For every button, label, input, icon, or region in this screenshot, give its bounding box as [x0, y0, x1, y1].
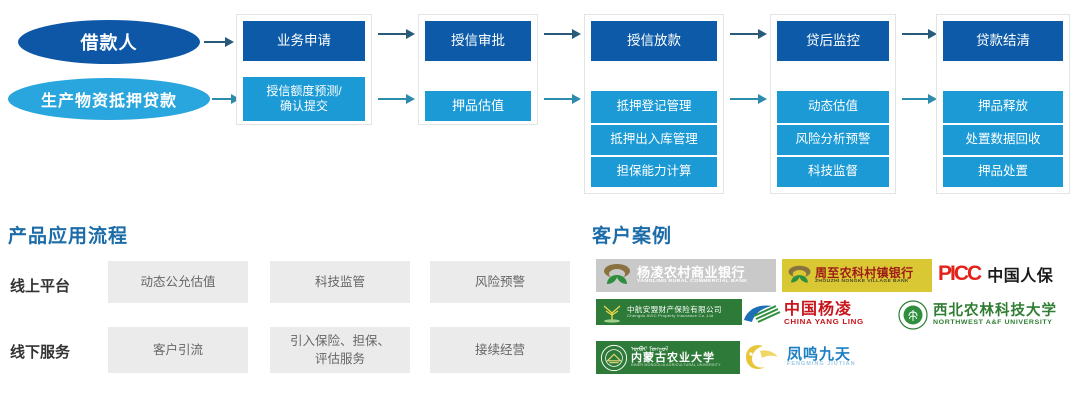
logo-cn-name: 中国杨凌	[784, 302, 864, 318]
flow-entity-loan-product[interactable]: 生产物资抵押贷款	[8, 78, 210, 120]
logo-text: 凤鸣九天 FENGMING JIUTIAN	[787, 347, 856, 368]
arrow-valuation-to-mortgage-reg	[544, 92, 582, 106]
customer-cases-title: 客户案例	[592, 221, 672, 248]
flow-subcell[interactable]: 押品处置	[943, 155, 1063, 187]
logo-text: 中航安盟财产保险有限公司 Chengdu AVIC Property Insur…	[627, 306, 722, 318]
flow-column-post-loan-monitoring: 贷后监控 动态估值 风险分析预警 科技监督	[770, 14, 896, 194]
flow-substack-credit-approval: 押品估值	[425, 91, 531, 121]
flow-cell-top-credit-approval[interactable]: 授信审批	[425, 21, 531, 61]
flow-subcell[interactable]: 押品释放	[943, 91, 1063, 123]
flow-subcell-label: 动态估值	[808, 99, 858, 115]
arrow-borrower-to-application	[204, 35, 234, 49]
slide-canvas: 借款人 生产物资抵押贷款 业务申请 授信额度预测/ 确认提交	[0, 0, 1080, 401]
logo-cn-name: 凤鸣九天	[787, 347, 856, 362]
flow-column-loan-settlement: 贷款结清 押品释放 处置数据回收 押品处置	[936, 14, 1070, 194]
flow-subcell-label: 抵押登记管理	[616, 99, 691, 115]
flow-cell-label: 贷后监控	[806, 33, 860, 50]
logo-yangling-rural-commercial-bank[interactable]: 杨凌农村商业银行 YANGLING RURAL COMMERCIAL BANK	[596, 259, 776, 292]
flow-subcell[interactable]: 动态估值	[777, 91, 889, 123]
arrow-application-to-valuation	[378, 92, 416, 106]
flow-subcell[interactable]: 押品估值	[425, 91, 531, 121]
flow-column-application: 业务申请 授信额度预测/ 确认提交	[236, 14, 372, 125]
flow-entity-borrower[interactable]: 借款人	[18, 20, 200, 64]
logo-en-name: CHINA YANG LING	[784, 318, 864, 326]
arrow-approval-to-disbursement	[544, 27, 582, 41]
logo-picc-china[interactable]: PICC 中国人保	[938, 258, 1078, 290]
logo-text: ᠥᠪᠥᠷ ᠮᠣᠩᠭᠣᠯ 内蒙古农业大学 INNER MONGOLIA AGRIC…	[631, 347, 721, 368]
logo-en-name: YANGLING RURAL COMMERCIAL BANK	[637, 280, 747, 285]
flow-subcell-label: 科技监督	[808, 164, 858, 180]
flow-subcell[interactable]: 科技监督	[777, 155, 889, 187]
flow-cell-label: 授信放款	[627, 33, 681, 50]
phoenix-icon	[740, 341, 784, 373]
arrow-application-to-approval	[378, 27, 416, 41]
flow-subcell-label: 担保能力计算	[616, 164, 691, 180]
arrow-disbursement-to-monitoring	[730, 27, 768, 41]
process-item[interactable]: 客户引流	[108, 327, 248, 373]
flow-subcell[interactable]: 风险分析预警	[777, 123, 889, 155]
flow-subcell[interactable]: 担保能力计算	[591, 155, 717, 187]
logo-fengming-jiutian[interactable]: 凤鸣九天 FENGMING JIUTIAN	[740, 340, 890, 374]
bank-emblem-icon	[600, 262, 634, 290]
bank-emblem-icon	[785, 263, 813, 289]
picc-wordmark: PICC	[938, 262, 980, 286]
logo-text: 西北农林科技大学 NORTHWEST A&F UNIVERSITY	[933, 304, 1057, 326]
flow-subcell[interactable]: 抵押登记管理	[591, 91, 717, 123]
logo-china-yangling[interactable]: 中国杨凌 CHINA YANG LING	[742, 298, 894, 330]
flow-column-credit-disbursement: 授信放款 抵押登记管理 抵押出入库管理 担保能力计算	[584, 14, 724, 194]
arrow-dynamic-valuation-to-release	[902, 92, 938, 106]
flow-cell-top-credit-disbursement[interactable]: 授信放款	[591, 21, 717, 61]
flow-cell-label: 贷款结清	[976, 33, 1030, 50]
logo-cn-name: 中国人保	[987, 262, 1053, 286]
logo-northwest-af-university[interactable]: 西北农林科技大学 NORTHWEST A&F UNIVERSITY	[898, 298, 1078, 332]
logo-en-name: ZHOUZHI NONGKE VILLAGE BANK	[815, 279, 913, 284]
process-flow-diagram: 借款人 生产物资抵押贷款 业务申请 授信额度预测/ 确认提交	[0, 0, 1080, 200]
plant-icon	[600, 301, 624, 323]
process-item[interactable]: 引入保险、担保、 评估服务	[270, 327, 410, 373]
flow-substack-application: 授信额度预测/ 确认提交	[243, 77, 365, 121]
logo-cn-name: 周至农科村镇银行	[815, 267, 913, 279]
process-row-label-offline: 线下服务	[10, 341, 70, 362]
flow-subcell-label: 押品处置	[978, 164, 1028, 180]
process-item[interactable]: 科技监管	[270, 261, 410, 303]
flow-subcell-label: 押品估值	[452, 98, 504, 114]
logo-zhouzhi-nongke-village-bank[interactable]: 周至农科村镇银行 ZHOUZHI NONGKE VILLAGE BANK	[782, 259, 932, 292]
flow-subcell-label: 押品释放	[978, 99, 1028, 115]
flow-cell-top-application[interactable]: 业务申请	[243, 21, 365, 61]
logo-inner-mongolia-agricultural-university[interactable]: ᠥᠪᠥᠷ ᠮᠣᠩᠭᠣᠯ 内蒙古农业大学 INNER MONGOLIA AGRIC…	[596, 341, 748, 374]
flow-cell-top-loan-settlement[interactable]: 贷款结清	[943, 21, 1063, 61]
process-row-label-online: 线上平台	[10, 275, 70, 296]
logo-en-name: INNER MONGOLIA AGRICULTURAL UNIVERSITY	[631, 364, 721, 367]
process-item[interactable]: 动态公允估值	[108, 261, 248, 303]
logo-text: 中国杨凌 CHINA YANG LING	[784, 302, 864, 326]
flow-substack-loan-settlement: 押品释放 处置数据回收 押品处置	[943, 91, 1063, 187]
flow-subcell-label: 风险分析预警	[795, 132, 870, 148]
university-seal-icon	[600, 344, 628, 372]
arrow-mortgage-reg-to-dynamic-valuation	[730, 92, 768, 106]
product-process-title: 产品应用流程	[8, 221, 128, 248]
logo-en-name: FENGMING JIUTIAN	[787, 362, 856, 367]
flow-cell-label: 业务申请	[277, 33, 331, 50]
flow-cell-top-post-loan-monitoring[interactable]: 贷后监控	[777, 21, 889, 61]
logo-en-name: NORTHWEST A&F UNIVERSITY	[933, 319, 1057, 326]
flow-entity-loan-product-label: 生产物资抵押贷款	[41, 87, 177, 111]
logo-en-name: Chengdu AVIC Property Insurance Co.,Ltd	[627, 314, 722, 318]
flow-subcell-label: 抵押出入库管理	[610, 132, 698, 148]
flow-cell-label: 授信审批	[451, 33, 505, 50]
process-item[interactable]: 接续经营	[430, 327, 570, 373]
flow-substack-post-loan-monitoring: 动态估值 风险分析预警 科技监督	[777, 91, 889, 187]
flow-subcell-label: 授信额度预测/ 确认提交	[266, 84, 341, 114]
flow-entity-borrower-label: 借款人	[81, 29, 138, 55]
flow-subcell[interactable]: 处置数据回收	[943, 123, 1063, 155]
logo-cn-name: 西北农林科技大学	[933, 304, 1057, 319]
logo-text: 杨凌农村商业银行 YANGLING RURAL COMMERCIAL BANK	[637, 266, 747, 285]
arrow-monitoring-to-settlement	[902, 27, 938, 41]
logo-avic-property-insurance[interactable]: 中航安盟财产保险有限公司 Chengdu AVIC Property Insur…	[596, 299, 748, 325]
logo-text: 周至农科村镇银行 ZHOUZHI NONGKE VILLAGE BANK	[815, 267, 913, 284]
flow-column-credit-approval: 授信审批 押品估值	[418, 14, 538, 125]
process-item[interactable]: 风险预警	[430, 261, 570, 303]
flow-subcell[interactable]: 抵押出入库管理	[591, 123, 717, 155]
flow-subcell-label: 处置数据回收	[965, 132, 1040, 148]
flow-subcell[interactable]: 授信额度预测/ 确认提交	[243, 77, 365, 121]
wheat-wave-icon	[742, 300, 782, 328]
flow-substack-credit-disbursement: 抵押登记管理 抵押出入库管理 担保能力计算	[591, 91, 717, 187]
university-seal-icon	[898, 300, 928, 330]
